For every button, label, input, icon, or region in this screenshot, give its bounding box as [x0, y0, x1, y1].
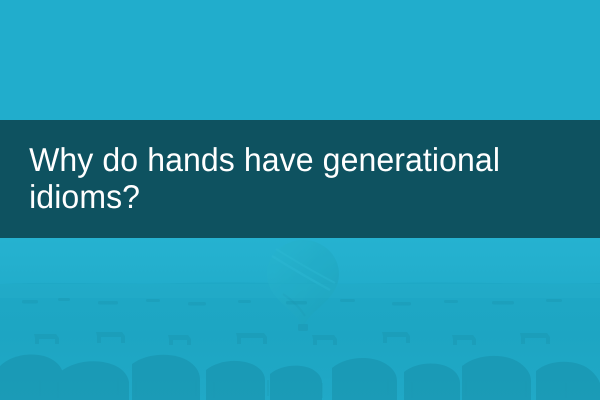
background-photo: [0, 238, 600, 400]
horizon-haze: [0, 284, 600, 298]
title-card-slide: Why do hands have generational idioms?: [0, 0, 600, 400]
caption-band: Why do hands have generational idioms?: [0, 120, 600, 238]
savanna-scene-graphic: [0, 238, 600, 400]
headline-text: Why do hands have generational idioms?: [0, 142, 582, 216]
sky-backdrop: [0, 0, 600, 120]
